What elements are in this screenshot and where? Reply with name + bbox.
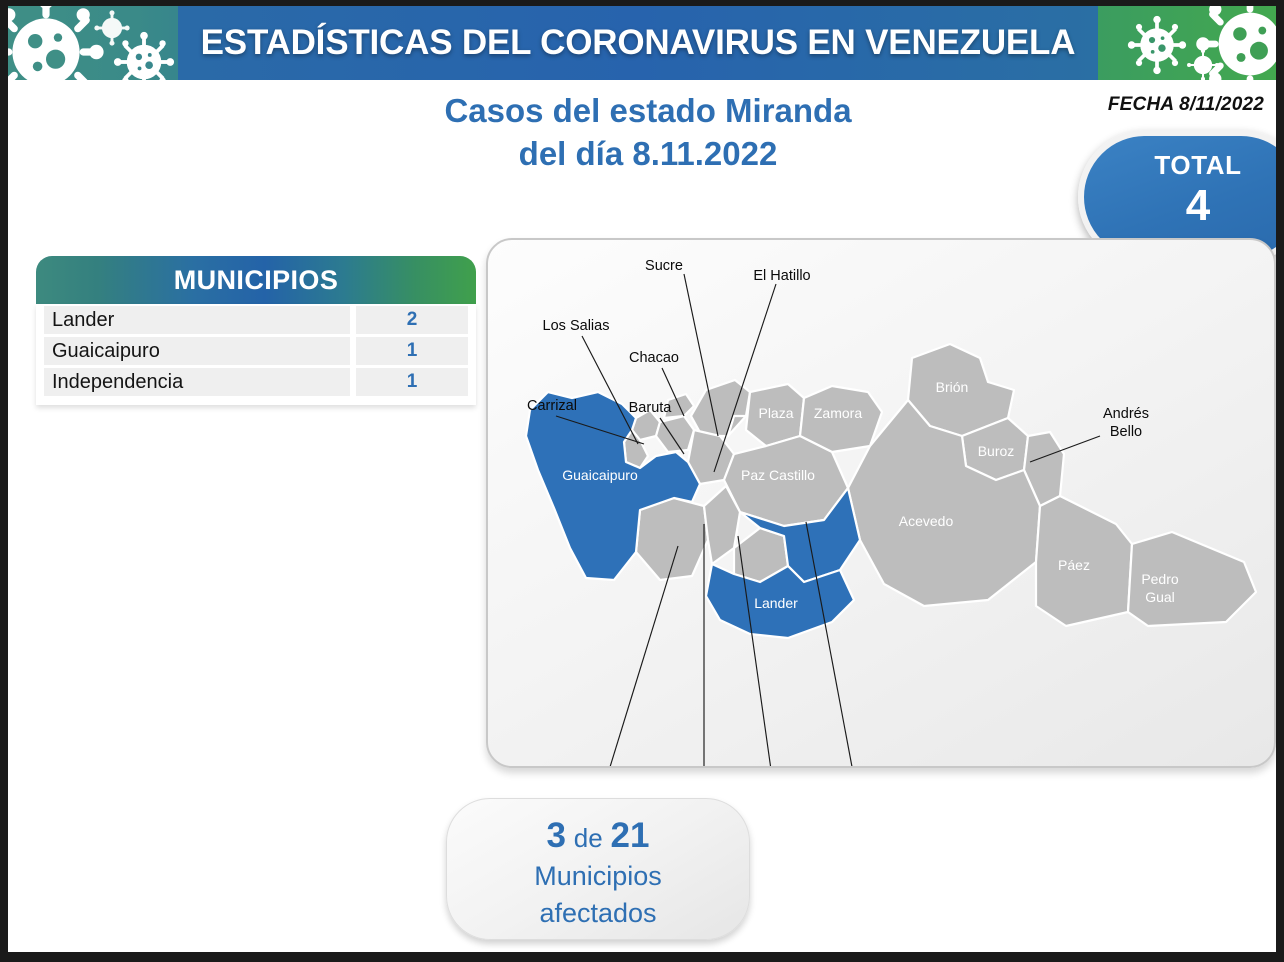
map-callout-andres-bello-line1: Andrés	[1103, 406, 1149, 422]
affected-municipios-summary: 3 de 21 Municipios afectados	[446, 798, 750, 940]
municipio-count: 2	[356, 306, 468, 334]
map-label-guaicaipuro: Guaicaipuro	[562, 467, 638, 483]
coronavirus-icon	[1194, 6, 1276, 80]
coronavirus-icon	[8, 6, 106, 80]
affected-caption-line2: afectados	[447, 896, 749, 931]
map-label-zamora: Zamora	[814, 405, 862, 421]
coronavirus-icon	[1126, 14, 1188, 76]
table-row: Lander 2	[44, 306, 468, 334]
map-label-brion: Brión	[936, 379, 969, 395]
map-callout-baruta: Baruta	[629, 400, 673, 416]
map-callout-el-hatillo: El Hatillo	[753, 268, 810, 284]
table-row: Guaicaipuro 1	[44, 337, 468, 365]
municipios-table-header: MUNICIPIOS	[36, 256, 476, 304]
map-callout-carrizal: Carrizal	[527, 398, 577, 414]
header-banner: ESTADÍSTICAS DEL CORONAVIRUS EN VENEZUEL…	[8, 6, 1276, 80]
map-region-urdaneta	[636, 498, 708, 580]
map-label-paz-castillo: Paz Castillo	[741, 467, 815, 483]
map-label-plaza: Plaza	[758, 405, 793, 421]
total-label: TOTAL	[1094, 150, 1276, 181]
municipio-name: Lander	[44, 306, 350, 334]
map-label-acevedo: Acevedo	[899, 513, 954, 529]
municipio-name: Guaicaipuro	[44, 337, 350, 365]
total-value: 4	[1094, 183, 1276, 229]
map-callout-andres-bello-line2: Bello	[1110, 424, 1142, 440]
map-label-paez: Páez	[1058, 557, 1090, 573]
map-callout-sucre: Sucre	[645, 258, 683, 274]
affected-total: 21	[611, 816, 650, 855]
map-label-lander: Lander	[754, 595, 798, 611]
page-title: Casos del estado Miranda del día 8.11.20…	[308, 90, 988, 176]
miranda-map-panel: Guaicaipuro Lander Plaza Zamora Paz Cast…	[486, 238, 1276, 768]
municipios-table-body: Lander 2 Guaicaipuro 1 Independencia 1	[36, 304, 476, 405]
page-title-line1: Casos del estado Miranda	[308, 90, 988, 133]
slide-canvas: ESTADÍSTICAS DEL CORONAVIRUS EN VENEZUEL…	[8, 6, 1276, 952]
map-callout-chacao: Chacao	[629, 350, 679, 366]
municipio-count: 1	[356, 368, 468, 396]
map-label-buroz: Buroz	[978, 443, 1015, 459]
coronavirus-icon	[112, 30, 176, 80]
municipios-table: MUNICIPIOS Lander 2 Guaicaipuro 1 Indepe…	[36, 256, 476, 405]
page-title-line2: del día 8.11.2022	[308, 133, 988, 176]
header-title: ESTADÍSTICAS DEL CORONAVIRUS EN VENEZUEL…	[178, 6, 1098, 80]
affected-count: 3	[547, 816, 566, 855]
table-row: Independencia 1	[44, 368, 468, 396]
map-callout-los-salias: Los Salias	[543, 318, 610, 334]
miranda-map: Guaicaipuro Lander Plaza Zamora Paz Cast…	[488, 240, 1276, 768]
coronavirus-icon	[94, 10, 130, 46]
affected-ratio: 3 de 21	[447, 815, 749, 857]
municipio-name: Independencia	[44, 368, 350, 396]
coronavirus-icon	[1186, 48, 1220, 80]
leader-line-urdaneta	[606, 546, 678, 768]
affected-caption-line1: Municipios	[447, 859, 749, 894]
date-stamp: FECHA 8/11/2022	[1108, 94, 1264, 116]
map-label-pedro-gual-line2: Gual	[1145, 589, 1175, 605]
municipio-count: 1	[356, 337, 468, 365]
map-label-pedro-gual-line1: Pedro	[1141, 571, 1179, 587]
affected-de-label: de	[574, 823, 603, 853]
